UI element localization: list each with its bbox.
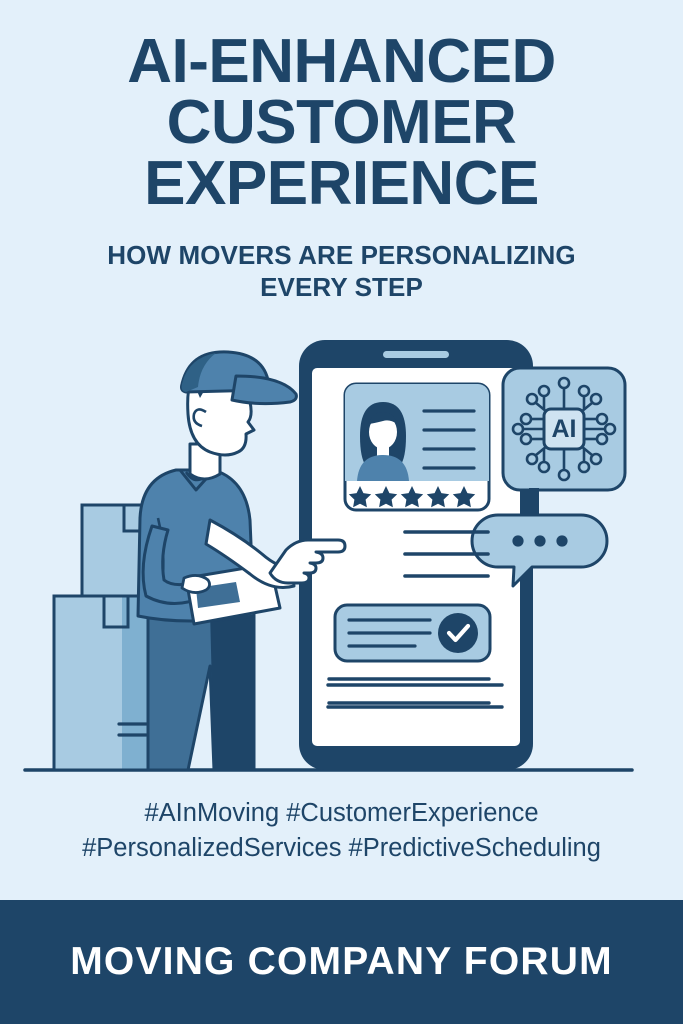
poster-canvas: AI-ENHANCED CUSTOMER EXPERIENCE HOW MOVE…	[0, 0, 683, 1024]
typing-dots	[512, 535, 567, 546]
phone-speaker-slot	[383, 351, 449, 358]
customer-profile-card	[345, 384, 489, 510]
illustration-scene: AI	[0, 320, 683, 790]
page-title: AI-ENHANCED CUSTOMER EXPERIENCE	[0, 32, 683, 214]
check-circle-icon	[438, 613, 478, 653]
subtitle-line-1: HOW MOVERS ARE PERSONALIZING	[62, 240, 622, 272]
hashtag-line-2: #PersonalizedServices #PredictiveSchedul…	[0, 831, 683, 866]
title-line-3: EXPERIENCE	[18, 154, 665, 215]
title-line-2: CUSTOMER	[18, 93, 665, 154]
footer-band: MOVING COMPANY FORUM	[0, 900, 683, 1024]
confirmation-card	[335, 605, 490, 661]
avatar	[357, 402, 409, 481]
header-block: AI-ENHANCED CUSTOMER EXPERIENCE HOW MOVE…	[0, 32, 683, 304]
hashtag-line-1: #AInMoving #CustomerExperience	[0, 796, 683, 831]
page-subtitle: HOW MOVERS ARE PERSONALIZING EVERY STEP	[62, 240, 622, 303]
ai-badge-label: AI	[552, 415, 577, 443]
subtitle-line-2: EVERY STEP	[62, 272, 622, 304]
ai-chip-badge: AI	[503, 368, 625, 490]
title-line-1: AI-ENHANCED	[18, 32, 665, 93]
brand-name: MOVING COMPANY FORUM	[70, 940, 613, 984]
hashtag-block: #AInMoving #CustomerExperience #Personal…	[0, 796, 683, 866]
